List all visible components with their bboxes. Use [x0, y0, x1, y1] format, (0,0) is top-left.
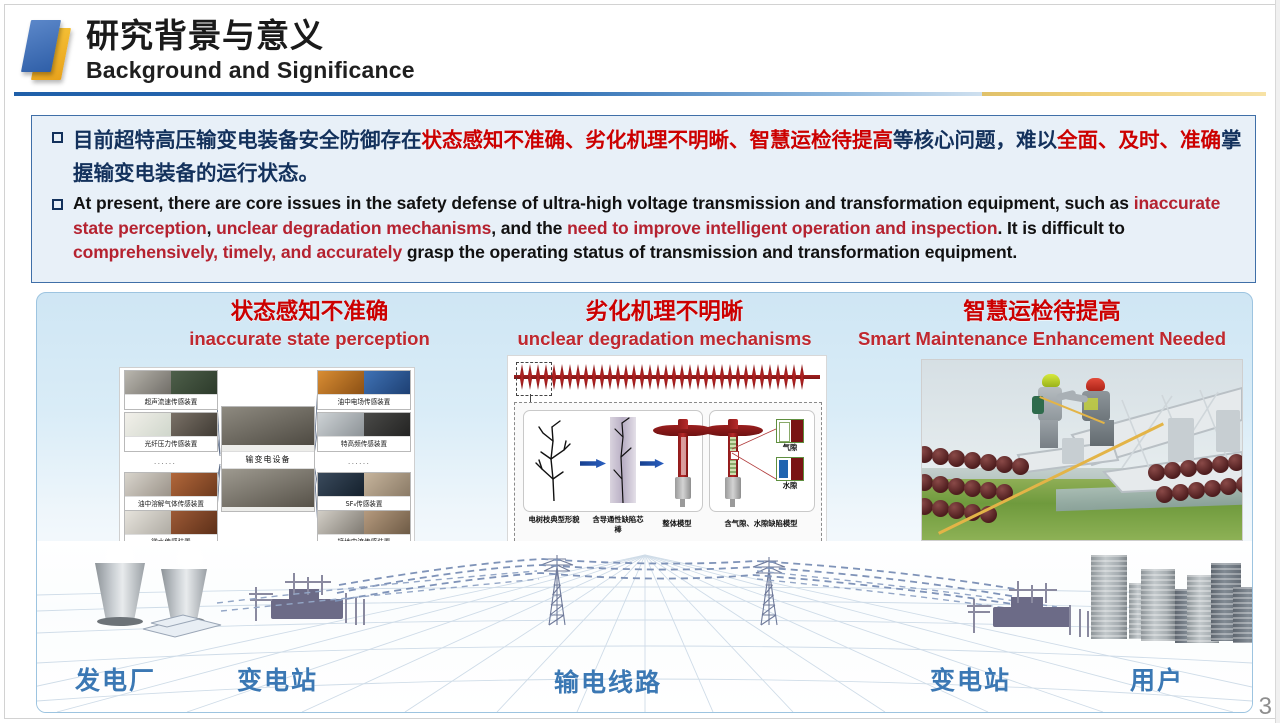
stmt-en-hl3: need to improve intelligent operation an…: [567, 218, 997, 238]
column-2-heading-zh: 劣化机理不明晰: [492, 299, 837, 326]
stmt-en-seg4: . It is difficult to: [997, 218, 1124, 238]
device-photo: [318, 473, 410, 497]
ellipsis-right: ······: [348, 460, 370, 468]
window-right-edge: [1275, 0, 1280, 723]
header-rule-blue: [14, 92, 982, 96]
stmt-en-seg2: ,: [207, 218, 217, 238]
stmt-zh-hl2: 全面、及时、准确: [1057, 128, 1221, 152]
degradation-model-box: 气隙 水隙 电树枝典型形貌 含导通性缺陷芯棒 整体模型 含气隙、水隙缺陷模型: [514, 402, 822, 546]
page-title-en: Background and Significance: [86, 56, 415, 84]
stmt-en-hl2: unclear degradation mechanisms: [216, 218, 491, 238]
column-2-heading-en: unclear degradation mechanisms: [492, 327, 837, 350]
stmt-en-seg3: , and the: [491, 218, 567, 238]
header-rule-gold: [982, 92, 1266, 96]
device-photo: [125, 473, 217, 497]
worker-green-helmet: [1030, 374, 1070, 448]
page-title-zh: 研究背景与意义: [86, 16, 324, 56]
model-sub-box-right: 气隙 水隙: [709, 410, 815, 512]
water-void-defect-icon: [776, 457, 804, 481]
stmt-en-seg5: grasp the operating status of transmissi…: [402, 242, 1017, 262]
stmt-zh-seg2: 等核心问题，难以: [893, 128, 1057, 152]
process-arrow-2-icon: [640, 459, 664, 468]
process-arrow-1-icon: [580, 459, 606, 468]
stmt-zh-hl1: 状态感知不准确、劣化机理不明晰、智慧运检待提高: [422, 128, 894, 152]
stmt-zh-seg1: 目前超特高压输变电装备安全防御存在: [73, 128, 422, 152]
substation-photo-top: [222, 407, 314, 445]
core-rod-tree-icon: [610, 417, 636, 503]
device-photo: [125, 511, 217, 535]
device-label: 油中电场传感装置: [318, 394, 410, 409]
building-3: [1141, 569, 1175, 641]
scene-label-users: 用户: [1130, 661, 1184, 697]
device-photo: [125, 371, 217, 395]
electrical-tree-morphology-icon: [532, 419, 576, 501]
blue-yellow-parallelogram-logo: [26, 20, 80, 80]
device-card-left-2: 光纤压力传感装置: [124, 412, 218, 452]
square-bullet-icon-2: [52, 199, 63, 210]
device-card-left-1: 超声流速传感装置: [124, 370, 218, 410]
page-number: 3: [1259, 693, 1272, 721]
substation-right: [967, 581, 1095, 647]
device-card-right-1: 油中电场传感装置: [317, 370, 411, 410]
column-3-heading-zh: 智慧运检待提高: [837, 299, 1247, 326]
slide-header: 研究背景与意义 Background and Significance: [0, 0, 1280, 98]
device-card-right-3: SF₆传感装置: [317, 472, 411, 512]
statement-bullet-zh: 目前超特高压输变电装备安全防御存在状态感知不准确、劣化机理不明晰、智慧运检待提高…: [44, 124, 1243, 190]
stmt-en-seg1: At present, there are core issues in the…: [73, 193, 1134, 213]
device-label: 油中溶解气体传感装置: [125, 496, 217, 511]
building-1: [1091, 555, 1127, 639]
model-sub-box-left: [523, 410, 703, 512]
device-card-right-2: 特高频传感装置: [317, 412, 411, 452]
stmt-en-hl4: comprehensively, timely, and accurately: [73, 242, 402, 262]
slide-root: 研究背景与意义 Background and Significance 目前超特…: [0, 0, 1280, 723]
statement-bullet-en: At present, there are core issues in the…: [44, 191, 1243, 265]
defect-label-water: 水隙: [772, 481, 808, 491]
device-label: 超声流速传感装置: [125, 394, 217, 409]
column-1-heading-zh: 状态感知不准确: [137, 299, 482, 326]
figure-degradation-model: 气隙 水隙 电树枝典型形貌 含导通性缺陷芯棒 整体模型 含气隙、水隙缺陷模型: [507, 355, 827, 552]
ellipsis-left: ······: [154, 460, 176, 468]
air-void-defect-icon: [776, 419, 804, 443]
column-heading-2: 劣化机理不明晰 unclear degradation mechanisms: [492, 299, 837, 350]
substation-photo-bottom: [222, 469, 314, 507]
column-3-heading-en: Smart Maintenance Enhancement Needed: [837, 327, 1247, 350]
statement-text-en: At present, there are core issues in the…: [73, 191, 1243, 265]
illustration-panel: 状态感知不准确 inaccurate state perception 劣化机理…: [36, 292, 1253, 713]
device-card-left-3: 油中溶解气体传感装置: [124, 472, 218, 512]
device-label: SF₆传感装置: [318, 496, 410, 511]
statement-box: 目前超特高压输变电装备安全防御存在状态感知不准确、劣化机理不明晰、智慧运检待提高…: [31, 115, 1256, 283]
degradation-caption-4: 含气隙、水隙缺陷模型: [709, 519, 813, 529]
scene-label-substation-left: 变电站: [237, 661, 318, 697]
device-photo: [125, 413, 217, 437]
power-grid-scene: 发电厂 变电站 输电线路 变电站 用户: [37, 541, 1252, 712]
defect-label-air: 气隙: [772, 443, 808, 453]
degradation-caption-1: 电树枝典型形貌: [525, 515, 583, 525]
composite-insulator: [514, 362, 820, 392]
device-label: 特高频传感装置: [318, 436, 410, 451]
square-bullet-icon: [52, 132, 63, 143]
statement-text-zh: 目前超特高压输变电装备安全防御存在状态感知不准确、劣化机理不明晰、智慧运检待提高…: [73, 124, 1243, 190]
figure-field-inspection-photo: [921, 359, 1243, 541]
degradation-caption-3: 整体模型: [653, 519, 701, 529]
scene-label-power-plant: 发电厂: [75, 661, 156, 697]
building-7: [1233, 587, 1252, 643]
device-photo: [318, 413, 410, 437]
device-photo: [318, 371, 410, 395]
whole-insulator-model-icon: [666, 417, 700, 507]
device-photo: [318, 511, 410, 535]
column-heading-3: 智慧运检待提高 Smart Maintenance Enhancement Ne…: [837, 299, 1247, 350]
device-label: 光纤压力传感装置: [125, 436, 217, 451]
degradation-caption-2: 含导通性缺陷芯棒: [589, 515, 647, 534]
figure-sensing-devices: 超声流速传感装置 光纤压力传感装置 ······ 油中溶解气体传感装置: [119, 367, 415, 550]
zoom-selection-marquee: [516, 362, 552, 396]
center-equipment-node: 输变电设备: [221, 406, 315, 512]
scene-label-transmission-line: 输电线路: [554, 663, 662, 699]
column-1-heading-en: inaccurate state perception: [137, 327, 482, 350]
center-node-label: 输变电设备: [222, 451, 314, 469]
scene-label-substation-right: 变电站: [930, 661, 1011, 697]
column-heading-1: 状态感知不准确 inaccurate state perception: [137, 299, 482, 350]
